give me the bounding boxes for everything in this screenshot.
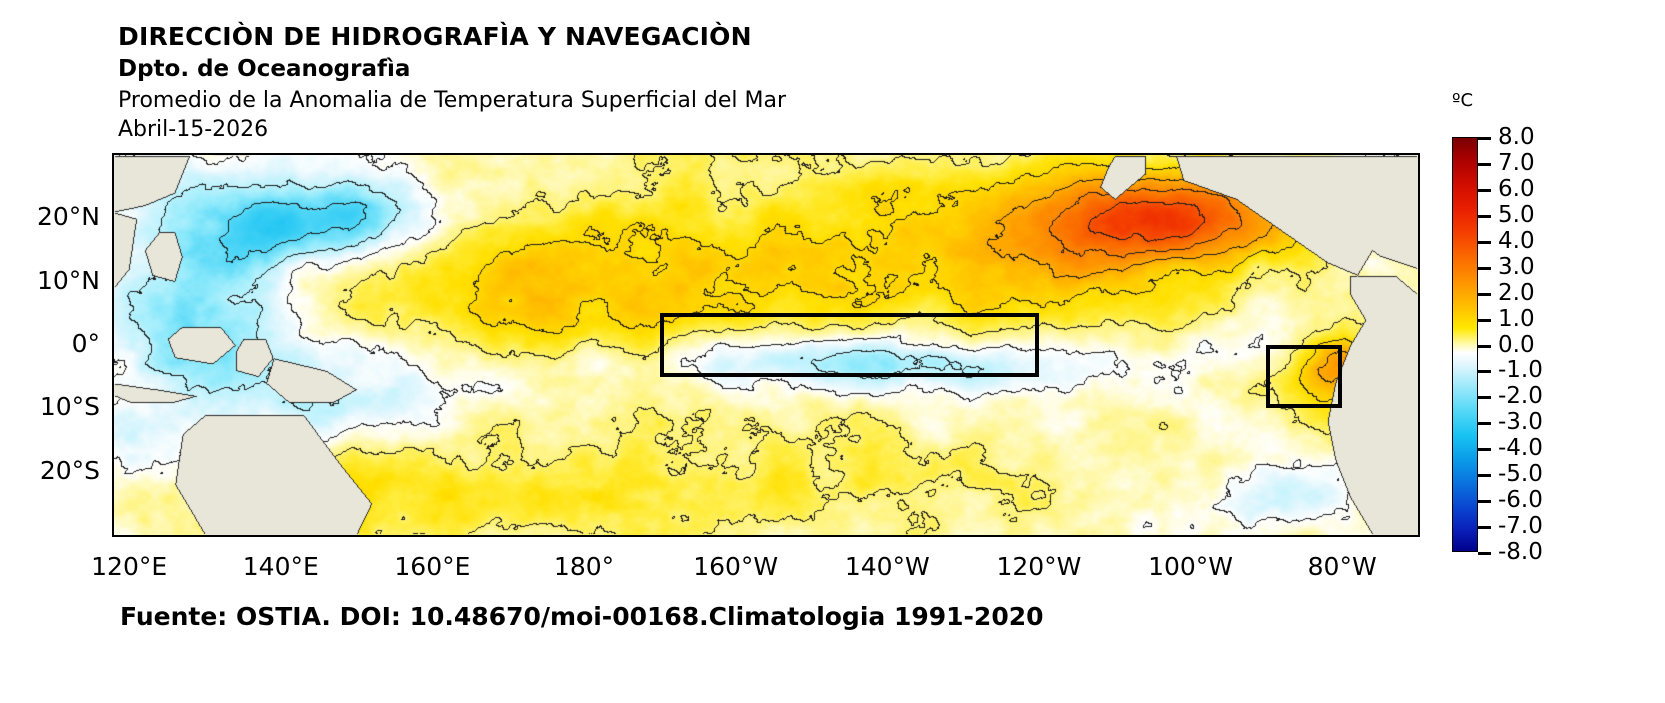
colorbar-tick-mark-13 <box>1478 474 1491 477</box>
colorbar-tick-label-1: 7.0 <box>1498 150 1535 176</box>
colorbar-tick-label-7: 1.0 <box>1498 306 1535 332</box>
colorbar-tick-mark-4 <box>1478 241 1491 244</box>
colorbar-tick-mark-15 <box>1478 526 1491 529</box>
colorbar-tick-label-4: 4.0 <box>1498 228 1535 254</box>
colorbar-tick-label-12: -4.0 <box>1498 435 1543 461</box>
colorbar-tick-mark-8 <box>1478 345 1491 348</box>
colorbar-tick-mark-2 <box>1478 189 1491 192</box>
colorbar-tick-mark-0 <box>1478 137 1491 140</box>
y-tick-2: 0° <box>0 329 100 358</box>
y-tick-1: 10°N <box>0 266 100 295</box>
colorbar-tick-label-11: -3.0 <box>1498 409 1543 435</box>
sst-anomaly-map-page: DIRECCIÒN DE HIDROGRAFÌA Y NAVEGACIÒN Dp… <box>0 0 1665 703</box>
map-plot-area[interactable] <box>112 153 1420 537</box>
colorbar-tick-mark-14 <box>1478 500 1491 503</box>
x-tick-4: 160°W <box>666 552 806 581</box>
colorbar-tick-label-0: 8.0 <box>1498 124 1535 150</box>
colorbar-tick-mark-5 <box>1478 267 1491 270</box>
colorbar-tick-label-3: 5.0 <box>1498 202 1535 228</box>
colorbar-tick-mark-10 <box>1478 396 1491 399</box>
department-title: Dpto. de Oceanografìa <box>118 54 1318 84</box>
colorbar-tick-label-15: -7.0 <box>1498 513 1543 539</box>
colorbar-tick-mark-6 <box>1478 293 1491 296</box>
colorbar-tick-label-10: -2.0 <box>1498 383 1543 409</box>
chart-date: Abril-15-2026 <box>118 115 1318 144</box>
colorbar-tick-label-8: 0.0 <box>1498 332 1535 358</box>
y-tick-0: 20°N <box>0 202 100 231</box>
colorbar-tick-label-16: -8.0 <box>1498 539 1543 565</box>
colorbar-tick-label-6: 2.0 <box>1498 280 1535 306</box>
colorbar-tick-mark-12 <box>1478 448 1491 451</box>
colorbar-tick-label-5: 3.0 <box>1498 254 1535 280</box>
header-block: DIRECCIÒN DE HIDROGRAFÌA Y NAVEGACIÒN Dp… <box>118 22 1318 144</box>
x-tick-2: 160°E <box>362 552 502 581</box>
colorbar-tick-label-13: -5.0 <box>1498 461 1543 487</box>
nino-1-2-box <box>1266 345 1342 408</box>
x-tick-1: 140°E <box>211 552 351 581</box>
y-tick-3: 10°S <box>0 392 100 421</box>
institution-title: DIRECCIÒN DE HIDROGRAFÌA Y NAVEGACIÒN <box>118 22 1318 52</box>
colorbar-tick-label-2: 6.0 <box>1498 176 1535 202</box>
x-tick-7: 100°W <box>1121 552 1261 581</box>
colorbar-tick-label-9: -1.0 <box>1498 357 1543 383</box>
y-tick-4: 20°S <box>0 456 100 485</box>
x-tick-0: 120°E <box>59 552 199 581</box>
colorbar-tick-mark-11 <box>1478 422 1491 425</box>
colorbar-tick-mark-7 <box>1478 319 1491 322</box>
colorbar-tick-label-14: -6.0 <box>1498 487 1543 513</box>
x-tick-8: 80°W <box>1272 552 1412 581</box>
nino-3-4-box <box>660 313 1039 376</box>
colorbar-tick-mark-16 <box>1478 552 1491 555</box>
colorbar[interactable] <box>1452 137 1478 552</box>
colorbar-tick-mark-3 <box>1478 215 1491 218</box>
x-tick-6: 120°W <box>969 552 1109 581</box>
colorbar-unit-label: ºC <box>1452 90 1473 111</box>
source-footnote: Fuente: OSTIA. DOI: 10.48670/moi-00168.C… <box>120 602 1044 631</box>
colorbar-tick-mark-9 <box>1478 370 1491 373</box>
chart-subtitle: Promedio de la Anomalia de Temperatura S… <box>118 86 1318 115</box>
colorbar-tick-mark-1 <box>1478 163 1491 166</box>
x-tick-5: 140°W <box>817 552 957 581</box>
colorbar-gradient <box>1452 137 1478 552</box>
x-tick-3: 180° <box>514 552 654 581</box>
